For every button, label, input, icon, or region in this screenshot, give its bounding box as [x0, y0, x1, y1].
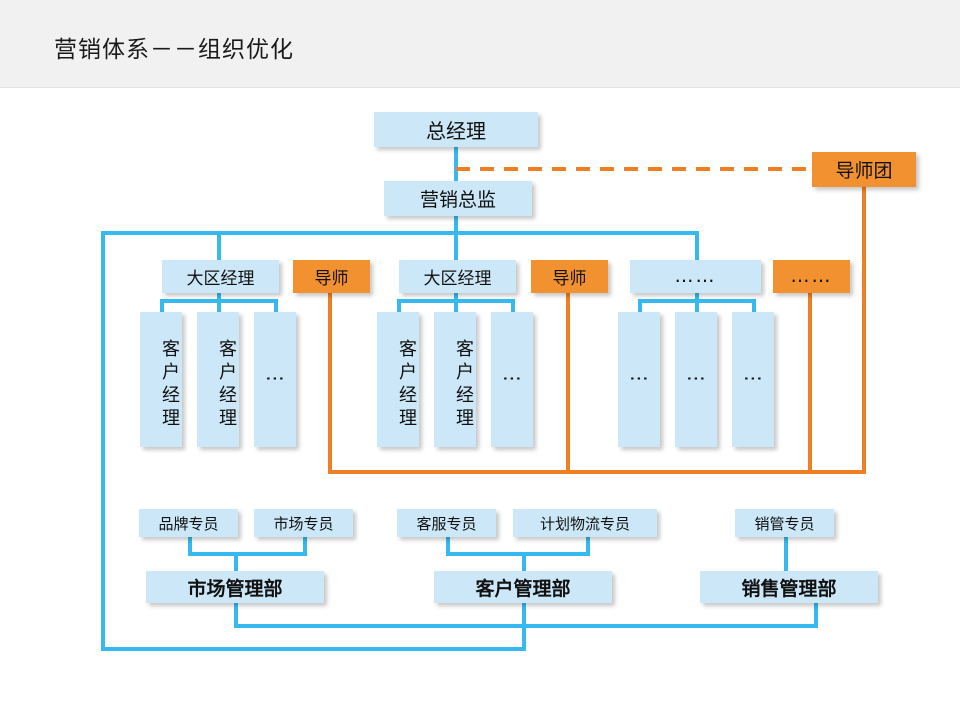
connector-bus-drop-rm1: [217, 231, 221, 260]
connector-rm1-drop-a: [160, 299, 164, 312]
node-label: 客户经理: [393, 339, 419, 431]
connector-rm3-drop-b: [695, 299, 699, 312]
node-mentor-team[interactable]: 导师团: [812, 152, 916, 187]
connector-rm3-drop-c: [752, 299, 756, 312]
connector-rm2-drop-b: [454, 299, 458, 312]
connector-mentor-bus: [328, 470, 866, 474]
node-marketing-director[interactable]: 营销总监: [384, 181, 532, 216]
org-chart-canvas: 总经理 营销总监 导师团 大区经理 导师 大区经理 导师 …… …… 客户经: [0, 88, 960, 720]
node-account-manager-ellipsis-2[interactable]: ⋮: [491, 312, 533, 447]
node-label: 客服专员: [416, 513, 476, 534]
node-regional-manager-3-ellipsis[interactable]: ……: [630, 260, 761, 293]
node-account-manager-1[interactable]: 客户经理: [140, 312, 182, 447]
connector-rm1-drop-b: [217, 299, 221, 312]
node-account-manager-ellipsis-5[interactable]: ⋮: [732, 312, 774, 447]
node-label: 导师团: [835, 156, 892, 183]
connector-mentor3-vertical: [808, 286, 812, 474]
node-account-manager-ellipsis-1[interactable]: ⋮: [254, 312, 296, 447]
node-market-specialist[interactable]: 市场专员: [254, 509, 353, 537]
node-label: 销售管理部: [741, 574, 836, 601]
connector-rm2-drop-c: [511, 299, 515, 312]
node-label: 客户经理: [450, 339, 476, 431]
node-mentor-1[interactable]: 导师: [293, 260, 370, 293]
connector-dept3-down: [814, 600, 818, 628]
node-label: ⋮: [628, 369, 650, 391]
node-label: 客户管理部: [475, 574, 570, 601]
connector-bus-drop-rm3: [695, 231, 699, 260]
connector-rm1-drop-c: [274, 299, 278, 312]
node-account-manager-4[interactable]: 客户经理: [434, 312, 476, 447]
node-account-manager-ellipsis-3[interactable]: ⋮: [618, 312, 660, 447]
node-mentor-2[interactable]: 导师: [531, 260, 608, 293]
connector-left-rail-vertical: [101, 231, 105, 651]
node-label: ……: [675, 267, 717, 286]
node-brand-specialist[interactable]: 品牌专员: [139, 509, 238, 537]
node-label: 导师: [315, 264, 349, 289]
node-label: ⋮: [264, 369, 286, 391]
connector-dept2-down: [522, 600, 526, 651]
node-label: ……: [791, 267, 833, 286]
node-service-specialist[interactable]: 客服专员: [397, 509, 496, 537]
connector-left-rail-top: [101, 231, 221, 235]
node-label: 销管专员: [754, 513, 814, 534]
node-label: 客户经理: [156, 339, 182, 431]
connector-mentor2-vertical: [566, 286, 570, 474]
node-label: ⋮: [501, 369, 523, 391]
connector-rm3-drop-a: [638, 299, 642, 312]
connector-rm2-drop-a: [397, 299, 401, 312]
connector-gm-to-mentor-team-dashed: [456, 167, 816, 171]
connector-left-rail-bottom: [101, 647, 526, 651]
connector-dept1-stem: [234, 552, 238, 572]
connector-gm-to-director: [454, 147, 458, 181]
node-account-manager-3[interactable]: 客户经理: [377, 312, 419, 447]
slide-root: 营销体系－－组织优化: [0, 0, 960, 720]
node-customer-department[interactable]: 客户管理部: [434, 571, 612, 603]
node-label: 营销总监: [420, 185, 496, 212]
node-account-manager-2[interactable]: 客户经理: [197, 312, 239, 447]
node-label: 客户经理: [213, 339, 239, 431]
connector-dept1-bracket: [188, 552, 307, 556]
node-label: 总经理: [426, 115, 486, 144]
connector-mentor1-vertical: [328, 286, 332, 474]
node-regional-manager-1[interactable]: 大区经理: [162, 260, 279, 293]
node-mentor-3-ellipsis[interactable]: ……: [773, 260, 850, 293]
connector-regional-bus: [217, 231, 699, 235]
node-label: 品牌专员: [158, 513, 218, 534]
node-label: ⋮: [742, 369, 764, 391]
node-logistics-specialist[interactable]: 计划物流专员: [513, 509, 657, 537]
node-label: ⋮: [685, 369, 707, 391]
connector-dept2-stem: [522, 552, 526, 572]
slide-header: 营销体系－－组织优化: [0, 0, 960, 88]
node-market-department[interactable]: 市场管理部: [146, 571, 324, 603]
node-label: 导师: [553, 264, 587, 289]
node-label: 计划物流专员: [540, 513, 630, 534]
node-account-manager-ellipsis-4[interactable]: ⋮: [675, 312, 717, 447]
node-label: 市场专员: [273, 513, 333, 534]
connector-dept3-sp5-drop: [784, 537, 788, 572]
node-regional-manager-2[interactable]: 大区经理: [399, 260, 516, 293]
node-label: 大区经理: [424, 264, 492, 289]
connector-bus-drop-rm2: [454, 231, 458, 260]
node-sales-admin-specialist[interactable]: 销管专员: [735, 509, 834, 537]
connector-mentor-team-vertical: [862, 187, 866, 474]
page-title: 营销体系－－组织优化: [54, 30, 294, 64]
node-label: 大区经理: [187, 264, 255, 289]
node-label: 市场管理部: [187, 574, 282, 601]
node-sales-department[interactable]: 销售管理部: [700, 571, 878, 603]
connector-dept2-bracket: [446, 552, 590, 556]
node-general-manager[interactable]: 总经理: [374, 112, 538, 147]
